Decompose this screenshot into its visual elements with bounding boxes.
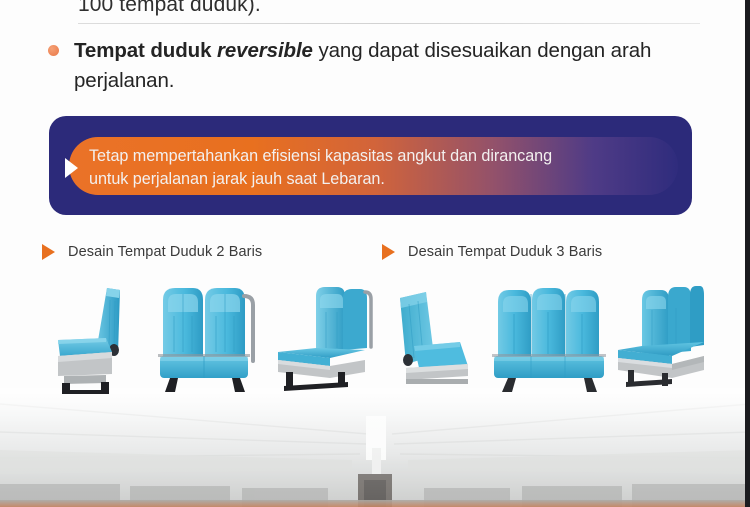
bullet-text: Tempat duduk reversible yang dapat dises… [74, 36, 686, 96]
seat-2row-side-view [44, 276, 152, 394]
seat-2row-angle-view [264, 276, 374, 394]
callout-line-2: untuk perjalanan jarak jauh saat Lebaran… [89, 168, 669, 191]
seat-gallery-2-baris [44, 276, 374, 394]
bullet-dot-icon [48, 45, 59, 56]
train-interior-photo [0, 388, 750, 507]
section-heading-3-baris: Desain Tempat Duduk 3 Baris [382, 244, 602, 260]
seat-3row-folded-view [384, 276, 488, 394]
bullet-lead-bold: Tempat duduk [74, 39, 211, 62]
clipped-previous-line: 100 tempat duduk). [78, 0, 261, 17]
callout-text: Tetap mempertahankan efisiensi kapasitas… [89, 145, 669, 191]
divider [78, 23, 700, 24]
seat-2row-front-view [152, 276, 264, 394]
bullet-lead-italic: reversible [217, 39, 313, 62]
play-triangle-icon [42, 244, 55, 260]
highlight-callout-card: Tetap mempertahankan efisiensi kapasitas… [49, 116, 692, 215]
callout-line-1: Tetap mempertahankan efisiensi kapasitas… [89, 145, 669, 168]
section-label: Desain Tempat Duduk 2 Baris [68, 244, 262, 260]
play-triangle-icon [65, 158, 78, 178]
right-edge-border [745, 0, 750, 507]
section-heading-2-baris: Desain Tempat Duduk 2 Baris [42, 244, 262, 260]
seat-3row-front-view [488, 276, 614, 394]
play-triangle-icon [382, 244, 395, 260]
bullet-item: Tempat duduk reversible yang dapat dises… [46, 36, 686, 96]
infographic-slide: 100 tempat duduk). Tempat duduk reversib… [0, 0, 750, 507]
seat-3row-angle-view [614, 276, 704, 394]
seat-gallery-3-baris [384, 276, 704, 394]
section-label: Desain Tempat Duduk 3 Baris [408, 244, 602, 260]
